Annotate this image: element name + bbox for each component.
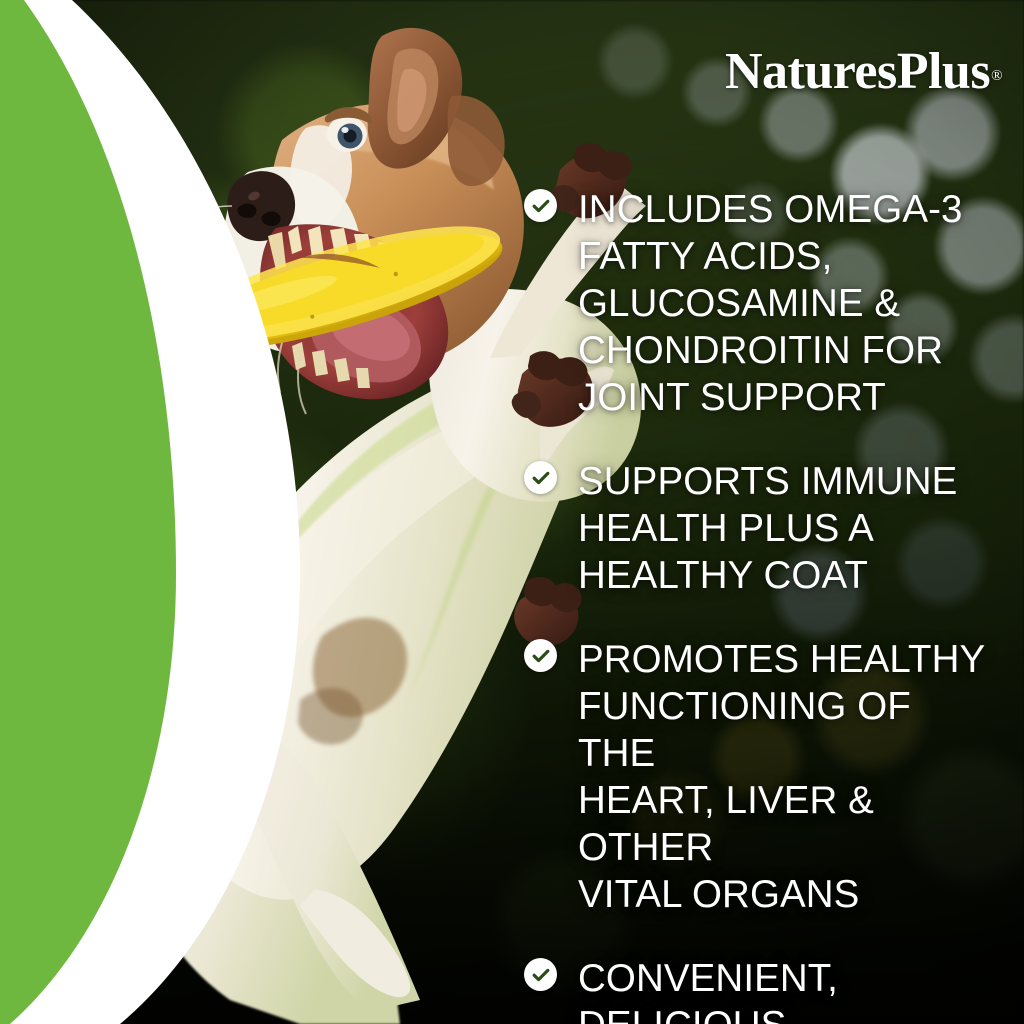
- benefits-list: INCLUDES OMEGA-3 FATTY ACIDS, GLUCOSAMIN…: [524, 186, 994, 1024]
- brand-logo-text: NaturesPlus: [725, 43, 990, 100]
- benefit-item: INCLUDES OMEGA-3 FATTY ACIDS, GLUCOSAMIN…: [524, 186, 994, 421]
- registered-trademark-icon: ®: [991, 68, 1002, 84]
- brand-logo: NaturesPlus®: [725, 46, 1002, 98]
- benefit-text: PROMOTES HEALTHY FUNCTIONING OF THE HEAR…: [578, 636, 994, 918]
- benefit-text: INCLUDES OMEGA-3 FATTY ACIDS, GLUCOSAMIN…: [578, 186, 963, 421]
- check-circle-icon: [524, 461, 557, 494]
- check-circle-icon: [524, 639, 557, 672]
- check-circle-icon: [524, 958, 557, 991]
- benefit-item: SUPPORTS IMMUNE HEALTH PLUS A HEALTHY CO…: [524, 458, 994, 599]
- benefit-item: PROMOTES HEALTHY FUNCTIONING OF THE HEAR…: [524, 636, 994, 918]
- benefit-text: SUPPORTS IMMUNE HEALTH PLUS A HEALTHY CO…: [578, 458, 957, 599]
- product-benefit-graphic: NaturesPlus® INCLUDES OMEGA-3 FATTY ACID…: [0, 0, 1024, 1024]
- check-circle-icon: [524, 189, 557, 222]
- benefit-item: CONVENIENT, DELICIOUS SPRINKLE- ON FORMU…: [524, 955, 994, 1024]
- benefit-text: CONVENIENT, DELICIOUS SPRINKLE- ON FORMU…: [578, 955, 994, 1024]
